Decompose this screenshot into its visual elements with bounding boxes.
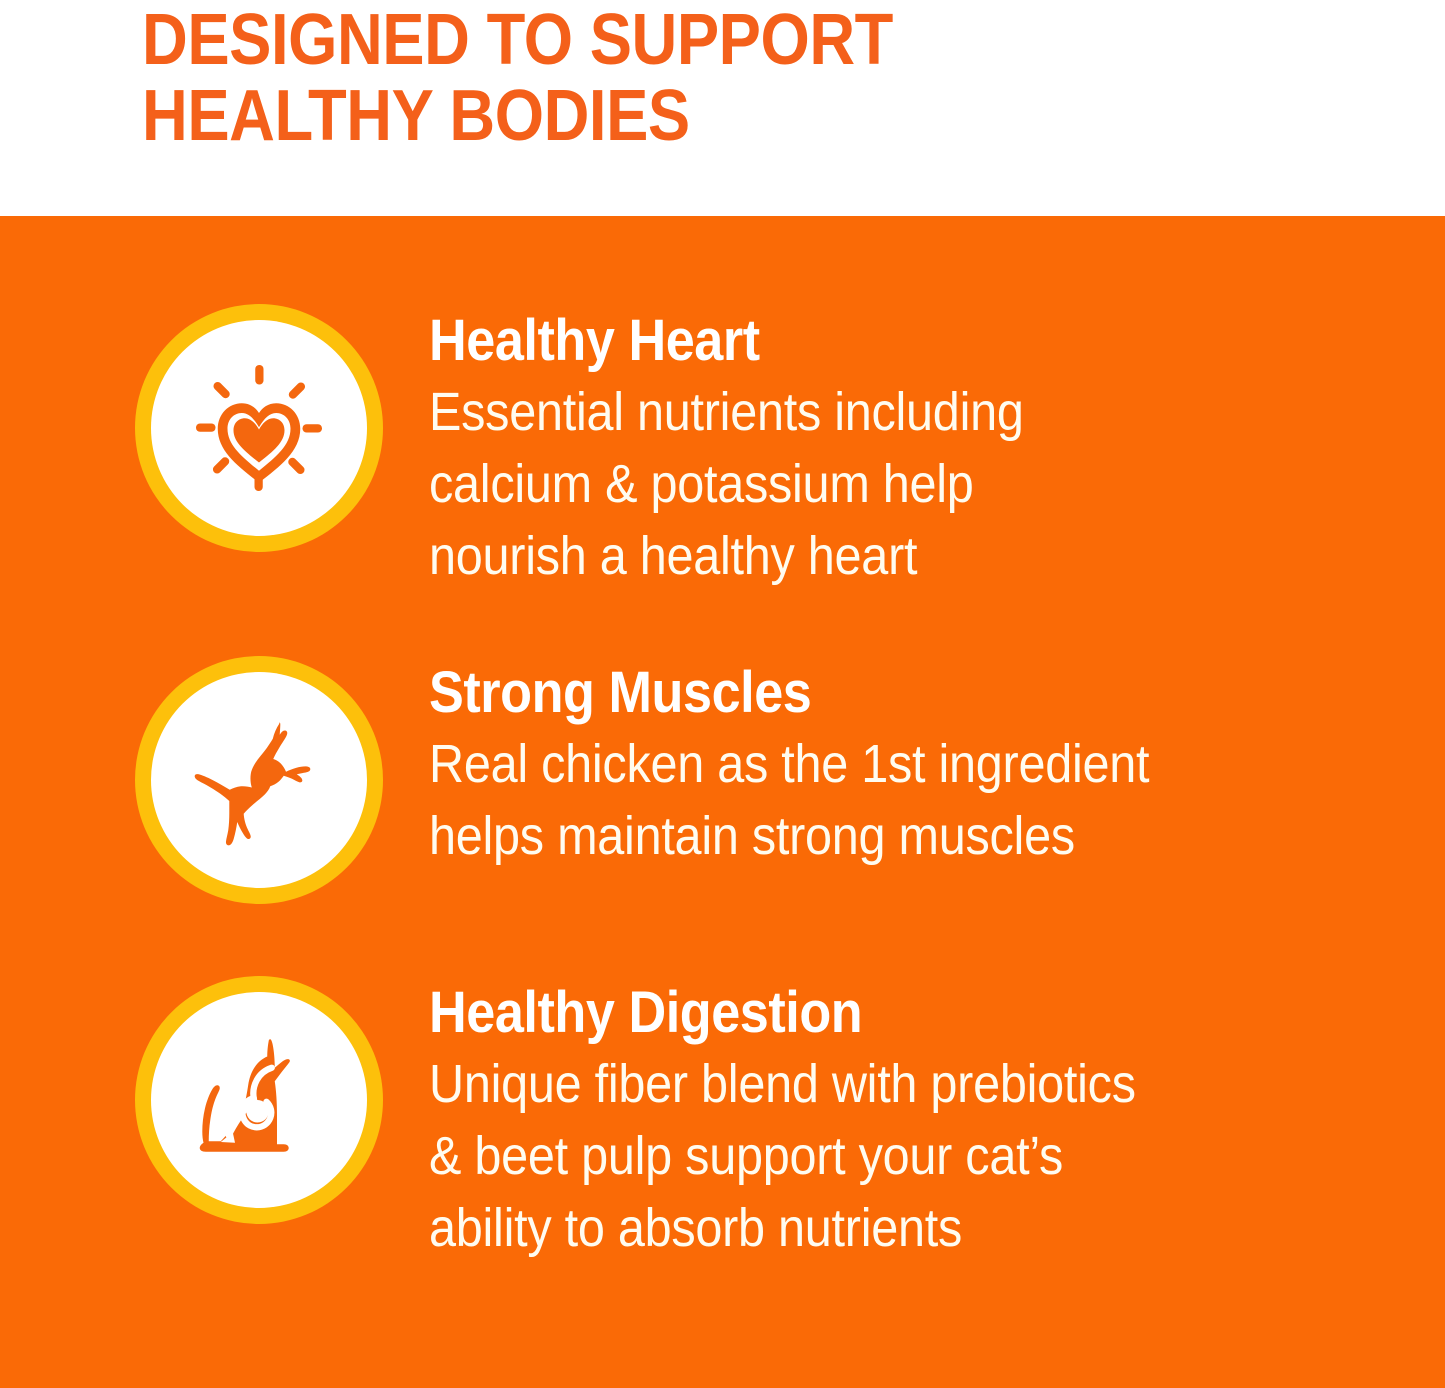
benefit-text-block: Healthy Digestion Unique fiber blend wit… bbox=[429, 976, 1214, 1264]
leaping-cat-icon bbox=[184, 705, 334, 855]
benefit-icon-badge bbox=[135, 656, 383, 904]
benefit-row: Healthy Digestion Unique fiber blend wit… bbox=[0, 976, 1214, 1264]
benefit-icon-badge bbox=[135, 976, 383, 1224]
benefit-title: Strong Muscles bbox=[429, 662, 1149, 724]
benefit-description: Unique fiber blend with prebiotics & bee… bbox=[429, 1048, 1136, 1264]
benefits-panel: Healthy Heart Essential nutrients includ… bbox=[0, 216, 1445, 1388]
benefit-title: Healthy Heart bbox=[429, 310, 1024, 372]
benefit-text-block: Healthy Heart Essential nutrients includ… bbox=[429, 304, 1090, 592]
benefit-icon-badge bbox=[135, 304, 383, 552]
benefit-description: Essential nutrients including calcium & … bbox=[429, 376, 1024, 592]
radiant-heart-icon bbox=[184, 353, 334, 503]
benefit-row: Healthy Heart Essential nutrients includ… bbox=[0, 304, 1090, 592]
sitting-cat-digestion-icon bbox=[184, 1025, 334, 1175]
benefit-text-block: Strong Muscles Real chicken as the 1st i… bbox=[429, 656, 1229, 872]
page-title: DESIGNED TO SUPPORT HEALTHY BODIES bbox=[142, 2, 1110, 154]
benefit-description: Real chicken as the 1st ingredient helps… bbox=[429, 728, 1149, 872]
benefit-title: Healthy Digestion bbox=[429, 982, 1136, 1044]
product-benefits-infographic: DESIGNED TO SUPPORT HEALTHY BODIES bbox=[0, 0, 1445, 1388]
header-band: DESIGNED TO SUPPORT HEALTHY BODIES bbox=[0, 0, 1445, 216]
benefit-row: Strong Muscles Real chicken as the 1st i… bbox=[0, 656, 1229, 904]
